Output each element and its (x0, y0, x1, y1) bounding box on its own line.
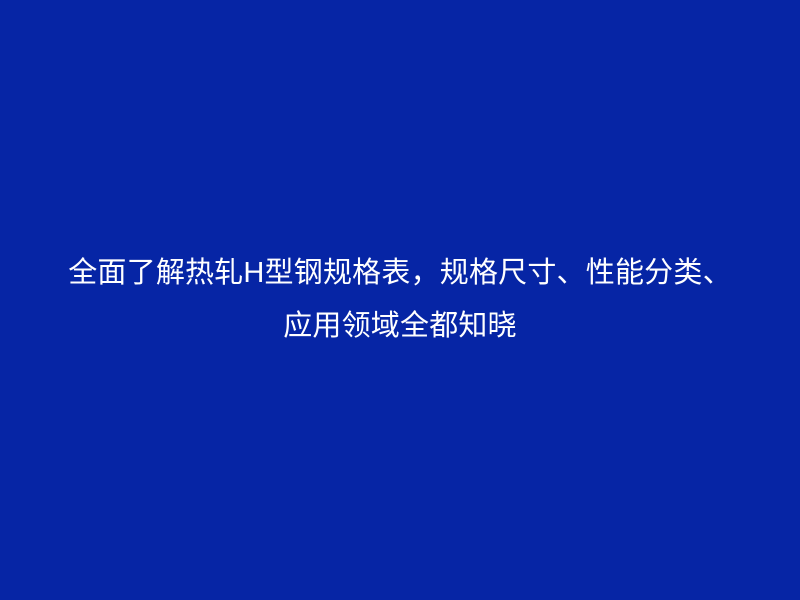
title-block: 全面了解热轧H型钢规格表，规格尺寸、性能分类、应用领域全都知晓 (50, 247, 750, 353)
page-title: 全面了解热轧H型钢规格表，规格尺寸、性能分类、应用领域全都知晓 (60, 247, 740, 353)
title-slide: 全面了解热轧H型钢规格表，规格尺寸、性能分类、应用领域全都知晓 (0, 0, 800, 600)
